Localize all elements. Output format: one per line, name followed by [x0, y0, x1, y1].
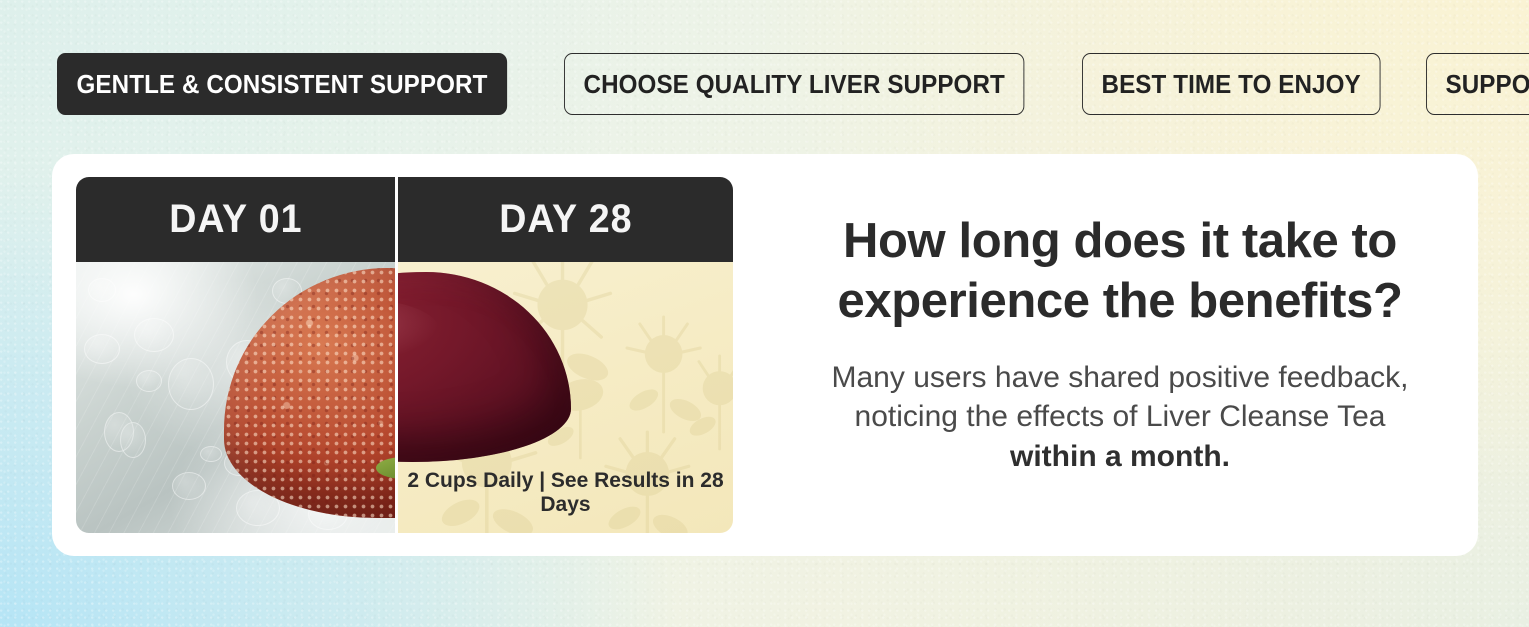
before-after-comparison-image: DAY 01 [76, 177, 733, 533]
day-01-header: DAY 01 [76, 177, 395, 262]
day-28-panel: DAY 28 [395, 177, 733, 533]
page-root: GENTLE & CONSISTENT SUPPORT CHOOSE QUALI… [0, 0, 1529, 627]
tab-label: CHOOSE QUALITY LIVER SUPPORT [583, 69, 1004, 100]
tab-label: GENTLE & CONSISTENT SUPPORT [77, 69, 488, 100]
tab-label: BEST TIME TO ENJOY [1101, 69, 1360, 100]
body-paragraph: Many users have shared positive feedback… [786, 358, 1454, 478]
body-emphasis: within a month. [1010, 440, 1230, 473]
day-01-panel: DAY 01 [76, 177, 395, 533]
day-01-illustration [76, 262, 395, 533]
copy-block: How long does it take to experience the … [786, 212, 1454, 477]
tab-gentle-consistent-support[interactable]: GENTLE & CONSISTENT SUPPORT [57, 53, 507, 115]
day-28-label: DAY 28 [499, 197, 632, 242]
body-line-1: Many users have shared positive feedback… [832, 361, 1409, 394]
day-28-illustration: 2 Cups Daily | See Results in 28 Days [398, 262, 733, 533]
tab-support-your-liver-health[interactable]: SUPPORT YOUR LIVER HEALTH [1426, 53, 1529, 115]
body-line-2: noticing the effects of Liver Cleanse Te… [855, 400, 1386, 433]
day-01-label: DAY 01 [169, 197, 302, 242]
headline: How long does it take to experience the … [786, 212, 1454, 332]
content-card: DAY 01 [52, 154, 1478, 556]
tab-bar: GENTLE & CONSISTENT SUPPORT CHOOSE QUALI… [57, 53, 1529, 115]
media-caption: 2 Cups Daily | See Results in 28 Days [398, 469, 733, 517]
tab-best-time-to-enjoy[interactable]: BEST TIME TO ENJOY [1082, 53, 1380, 115]
day-28-header: DAY 28 [398, 177, 733, 262]
tab-label: SUPPORT YOUR LIVER HEALTH [1445, 69, 1529, 100]
tab-choose-quality-liver-support[interactable]: CHOOSE QUALITY LIVER SUPPORT [564, 53, 1024, 115]
